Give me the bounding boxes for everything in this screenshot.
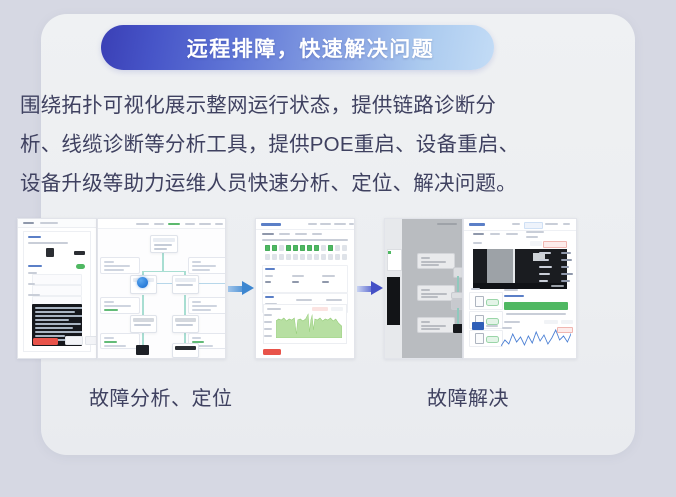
topology-node-device[interactable] xyxy=(451,292,462,299)
toolbar-item-active[interactable] xyxy=(168,223,180,225)
status-badge xyxy=(486,318,499,325)
topology-node-endpoint[interactable] xyxy=(136,345,149,355)
flow-arrow-1-cell xyxy=(226,218,255,359)
topology-info-card xyxy=(188,257,226,274)
diagnostic-form-screenshot xyxy=(17,218,97,359)
form-row[interactable] xyxy=(32,274,82,285)
status-badge xyxy=(486,336,499,343)
port-dashboard-screenshot xyxy=(255,218,355,359)
stats-value xyxy=(326,299,342,301)
info-value xyxy=(265,281,271,283)
vendor-label xyxy=(486,325,498,327)
section-subtitle xyxy=(28,242,68,244)
detail-label xyxy=(539,266,552,268)
slide-root: 远程排障，快速解决问题 围绕拓扑可视化展示整网运行状态，提供链路诊断分 析、线缆… xyxy=(0,0,676,497)
field-label xyxy=(28,272,37,274)
header-button[interactable] xyxy=(524,222,543,229)
topology-node-device[interactable] xyxy=(172,315,199,333)
info-section xyxy=(262,265,348,293)
topology-link xyxy=(142,331,143,345)
legend-row xyxy=(262,239,348,241)
caption-fault-analysis: 故障分析、定位 xyxy=(89,382,233,411)
detail-value xyxy=(561,280,570,282)
chart-title xyxy=(504,321,520,323)
detail-label xyxy=(539,252,551,254)
y-axis-tick xyxy=(264,328,272,330)
progress-label xyxy=(504,289,518,291)
dropdown-value[interactable] xyxy=(526,236,538,238)
device-detail-screenshot xyxy=(463,218,577,359)
tab-item[interactable] xyxy=(312,233,322,235)
arrow-right-icon xyxy=(228,281,254,296)
topology-link xyxy=(142,271,184,272)
header-action[interactable] xyxy=(512,223,520,225)
secondary-button[interactable] xyxy=(530,241,542,246)
topology-node-root[interactable] xyxy=(150,235,178,253)
topology-info-card xyxy=(100,333,140,349)
tab-item-active[interactable] xyxy=(262,233,274,235)
paragraph-line-1: 围绕拓扑可视化展示整网运行状态，提供链路诊断分 xyxy=(20,86,574,125)
topology-link xyxy=(184,295,185,317)
page-title xyxy=(261,223,281,226)
status-badge xyxy=(486,299,499,306)
detail-label xyxy=(539,259,549,261)
form-panel xyxy=(23,231,91,352)
toolbar-item[interactable] xyxy=(185,223,195,225)
topology-info-card xyxy=(417,285,455,301)
device-icon xyxy=(475,333,484,344)
topology-link xyxy=(142,295,143,317)
detail-value xyxy=(561,259,572,261)
chart-axis-label xyxy=(502,327,512,329)
info-value xyxy=(322,281,329,283)
mini-breadcrumb xyxy=(40,222,58,224)
chart-title xyxy=(267,308,281,310)
topology-node-device[interactable] xyxy=(130,315,157,333)
toggle-switch[interactable] xyxy=(76,264,85,269)
toolbar-item[interactable] xyxy=(136,223,149,225)
info-label xyxy=(292,275,304,277)
header-action[interactable] xyxy=(545,223,558,225)
device-thumb-2 xyxy=(74,251,85,255)
toolbar-item[interactable] xyxy=(215,223,223,225)
vendor-logo xyxy=(472,322,484,330)
header-action[interactable] xyxy=(334,223,346,225)
topology-info-card xyxy=(100,297,140,314)
topology-link xyxy=(457,308,458,324)
caption-fault-resolution: 故障解决 xyxy=(427,382,509,411)
paragraph-line-2: 析、线缆诊断等分析工具，提供POE重启、设备重启、 xyxy=(20,125,574,164)
description-paragraph: 围绕拓扑可视化展示整网运行状态，提供链路诊断分 析、线缆诊断等分析工具，提供PO… xyxy=(20,86,574,203)
screenshot-strip xyxy=(17,218,577,359)
detail-label xyxy=(539,273,550,275)
rail-terminal xyxy=(387,277,400,325)
chart-area-series xyxy=(276,312,342,338)
toolbar-item[interactable] xyxy=(154,223,164,225)
dimmed-topology-screenshot xyxy=(384,218,462,359)
section-label xyxy=(473,242,482,244)
info-label xyxy=(265,275,273,277)
tab-item[interactable] xyxy=(506,233,518,235)
traffic-chart xyxy=(263,304,347,344)
alert-badge xyxy=(543,241,567,248)
subsection-title xyxy=(28,265,42,267)
field-label xyxy=(28,294,40,296)
progress-axis xyxy=(506,313,566,315)
utilization-progress-bar xyxy=(504,302,568,310)
tab-item[interactable] xyxy=(490,233,500,235)
tab-item[interactable] xyxy=(295,233,307,235)
header-action[interactable] xyxy=(349,223,354,225)
topology-node-endpoint[interactable] xyxy=(172,343,199,358)
topology-info-card xyxy=(100,257,140,274)
stats-value xyxy=(296,299,312,301)
header-action[interactable] xyxy=(320,223,331,225)
field-label xyxy=(28,283,35,285)
flow-arrow-2-cell xyxy=(355,218,384,359)
paragraph-line-3: 设备升级等助力运维人员快速分析、定位、解决问题。 xyxy=(20,164,574,203)
network-topology-screenshot xyxy=(97,218,226,359)
tertiary-button[interactable] xyxy=(85,336,97,345)
info-label xyxy=(265,268,275,270)
dropdown-value[interactable] xyxy=(526,231,544,233)
caption-row: 故障分析、定位 故障解决 xyxy=(17,382,577,416)
topology-node-endpoint[interactable] xyxy=(453,324,462,333)
header-action[interactable] xyxy=(563,223,570,225)
arrow-right-icon xyxy=(357,281,383,296)
detail-label xyxy=(539,280,548,282)
chart-badge xyxy=(312,307,328,311)
topology-node-switch[interactable] xyxy=(172,275,199,294)
topology-canvas xyxy=(98,219,225,358)
progress-value xyxy=(504,295,524,297)
detail-value xyxy=(561,252,571,254)
title-banner: 远程排障，快速解决问题 xyxy=(101,25,494,70)
stats-label xyxy=(265,296,274,298)
status-dot xyxy=(388,251,391,254)
y-axis-tick xyxy=(264,335,272,337)
header-action[interactable] xyxy=(308,223,317,225)
device-preview-image xyxy=(473,249,567,289)
device-icon xyxy=(475,296,484,307)
info-value xyxy=(292,281,299,283)
mini-title xyxy=(23,222,34,224)
chart-action-button[interactable] xyxy=(263,349,281,355)
info-label xyxy=(322,275,335,277)
toolbar-item[interactable] xyxy=(199,223,211,225)
topology-info-card xyxy=(417,253,455,269)
overlay-toolbar xyxy=(437,223,457,225)
chart-threshold-badge xyxy=(557,327,573,333)
device-thumb xyxy=(46,248,54,257)
topology-info-card xyxy=(188,297,226,314)
y-axis-tick xyxy=(264,314,272,316)
title-banner-text: 远程排障，快速解决问题 xyxy=(161,33,435,63)
status-card-label xyxy=(471,288,480,290)
page-title xyxy=(469,223,485,226)
tab-item-active[interactable] xyxy=(473,233,484,235)
tab-item[interactable] xyxy=(279,233,290,235)
topology-info-card xyxy=(417,317,455,333)
topology-link xyxy=(457,276,458,292)
y-axis-tick xyxy=(264,321,272,323)
secondary-button[interactable] xyxy=(65,336,83,345)
detail-value xyxy=(561,266,569,268)
primary-action-button[interactable] xyxy=(33,338,58,345)
section-title xyxy=(28,236,41,238)
detail-value xyxy=(561,273,573,275)
chart-range-select[interactable] xyxy=(331,307,343,311)
